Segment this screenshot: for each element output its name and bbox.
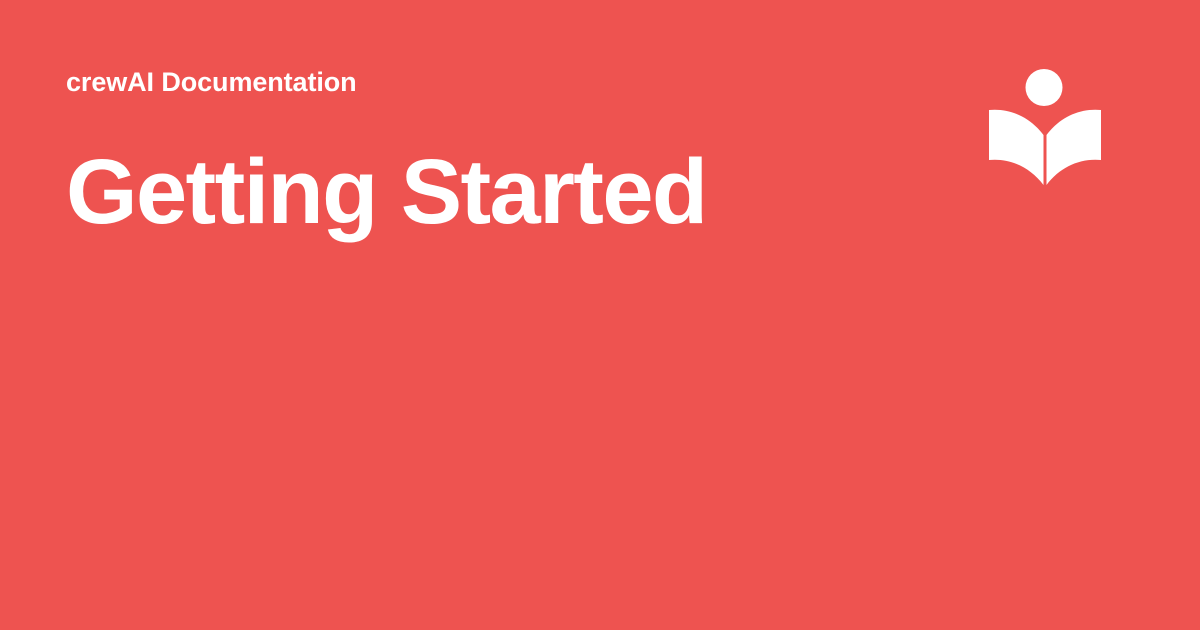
site-name-eyebrow: crewAI Documentation [66, 62, 886, 102]
og-card: crewAI Documentation Getting Started [0, 0, 1200, 630]
open-book-reader-icon [986, 64, 1104, 192]
book-left-page [989, 110, 1044, 185]
page-title: Getting Started [66, 144, 886, 240]
reader-head-circle [1026, 69, 1063, 106]
book-right-page [1047, 110, 1102, 185]
header-text-block: crewAI Documentation Getting Started [66, 62, 886, 240]
